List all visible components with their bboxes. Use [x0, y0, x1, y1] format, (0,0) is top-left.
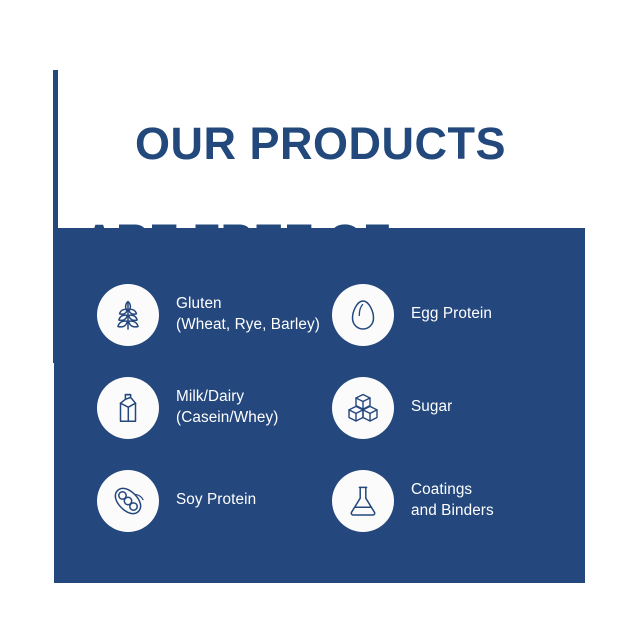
icon-badge-coatings-and-binders	[332, 470, 394, 532]
icon-badge-gluten	[97, 284, 159, 346]
list-item-gluten: Gluten (Wheat, Rye, Barley)	[97, 284, 322, 346]
list-item-egg-protein: Egg Protein	[332, 284, 557, 346]
icon-badge-egg-protein	[332, 284, 394, 346]
flask-icon	[343, 481, 383, 521]
egg-icon	[343, 295, 383, 335]
list-item-coatings-and-binders: Coatings and Binders	[332, 470, 557, 532]
list-item-label: Milk/Dairy (Casein/Whey)	[176, 387, 278, 429]
icon-badge-sugar	[332, 377, 394, 439]
list-item-label: Gluten (Wheat, Rye, Barley)	[176, 294, 320, 336]
list-item-milk-dairy: Milk/Dairy (Casein/Whey)	[97, 377, 322, 439]
list-item-label: Sugar	[411, 397, 452, 418]
list-item-label: Coatings and Binders	[411, 480, 494, 522]
soybean-pod-icon	[108, 481, 148, 521]
free-of-grid: Gluten (Wheat, Rye, Barley) Egg Protein	[97, 268, 557, 547]
icon-badge-milk-dairy	[97, 377, 159, 439]
free-of-panel: Gluten (Wheat, Rye, Barley) Egg Protein	[54, 228, 585, 583]
sugar-cubes-icon	[343, 388, 383, 428]
wheat-icon	[108, 295, 148, 335]
icon-badge-soy-protein	[97, 470, 159, 532]
page-title-line-1: OUR PRODUCTS	[135, 118, 506, 169]
list-item-label: Egg Protein	[411, 304, 492, 325]
list-item-label: Soy Protein	[176, 490, 256, 511]
list-item-sugar: Sugar	[332, 377, 557, 439]
list-item-soy-protein: Soy Protein	[97, 470, 322, 532]
milk-carton-icon	[108, 388, 148, 428]
